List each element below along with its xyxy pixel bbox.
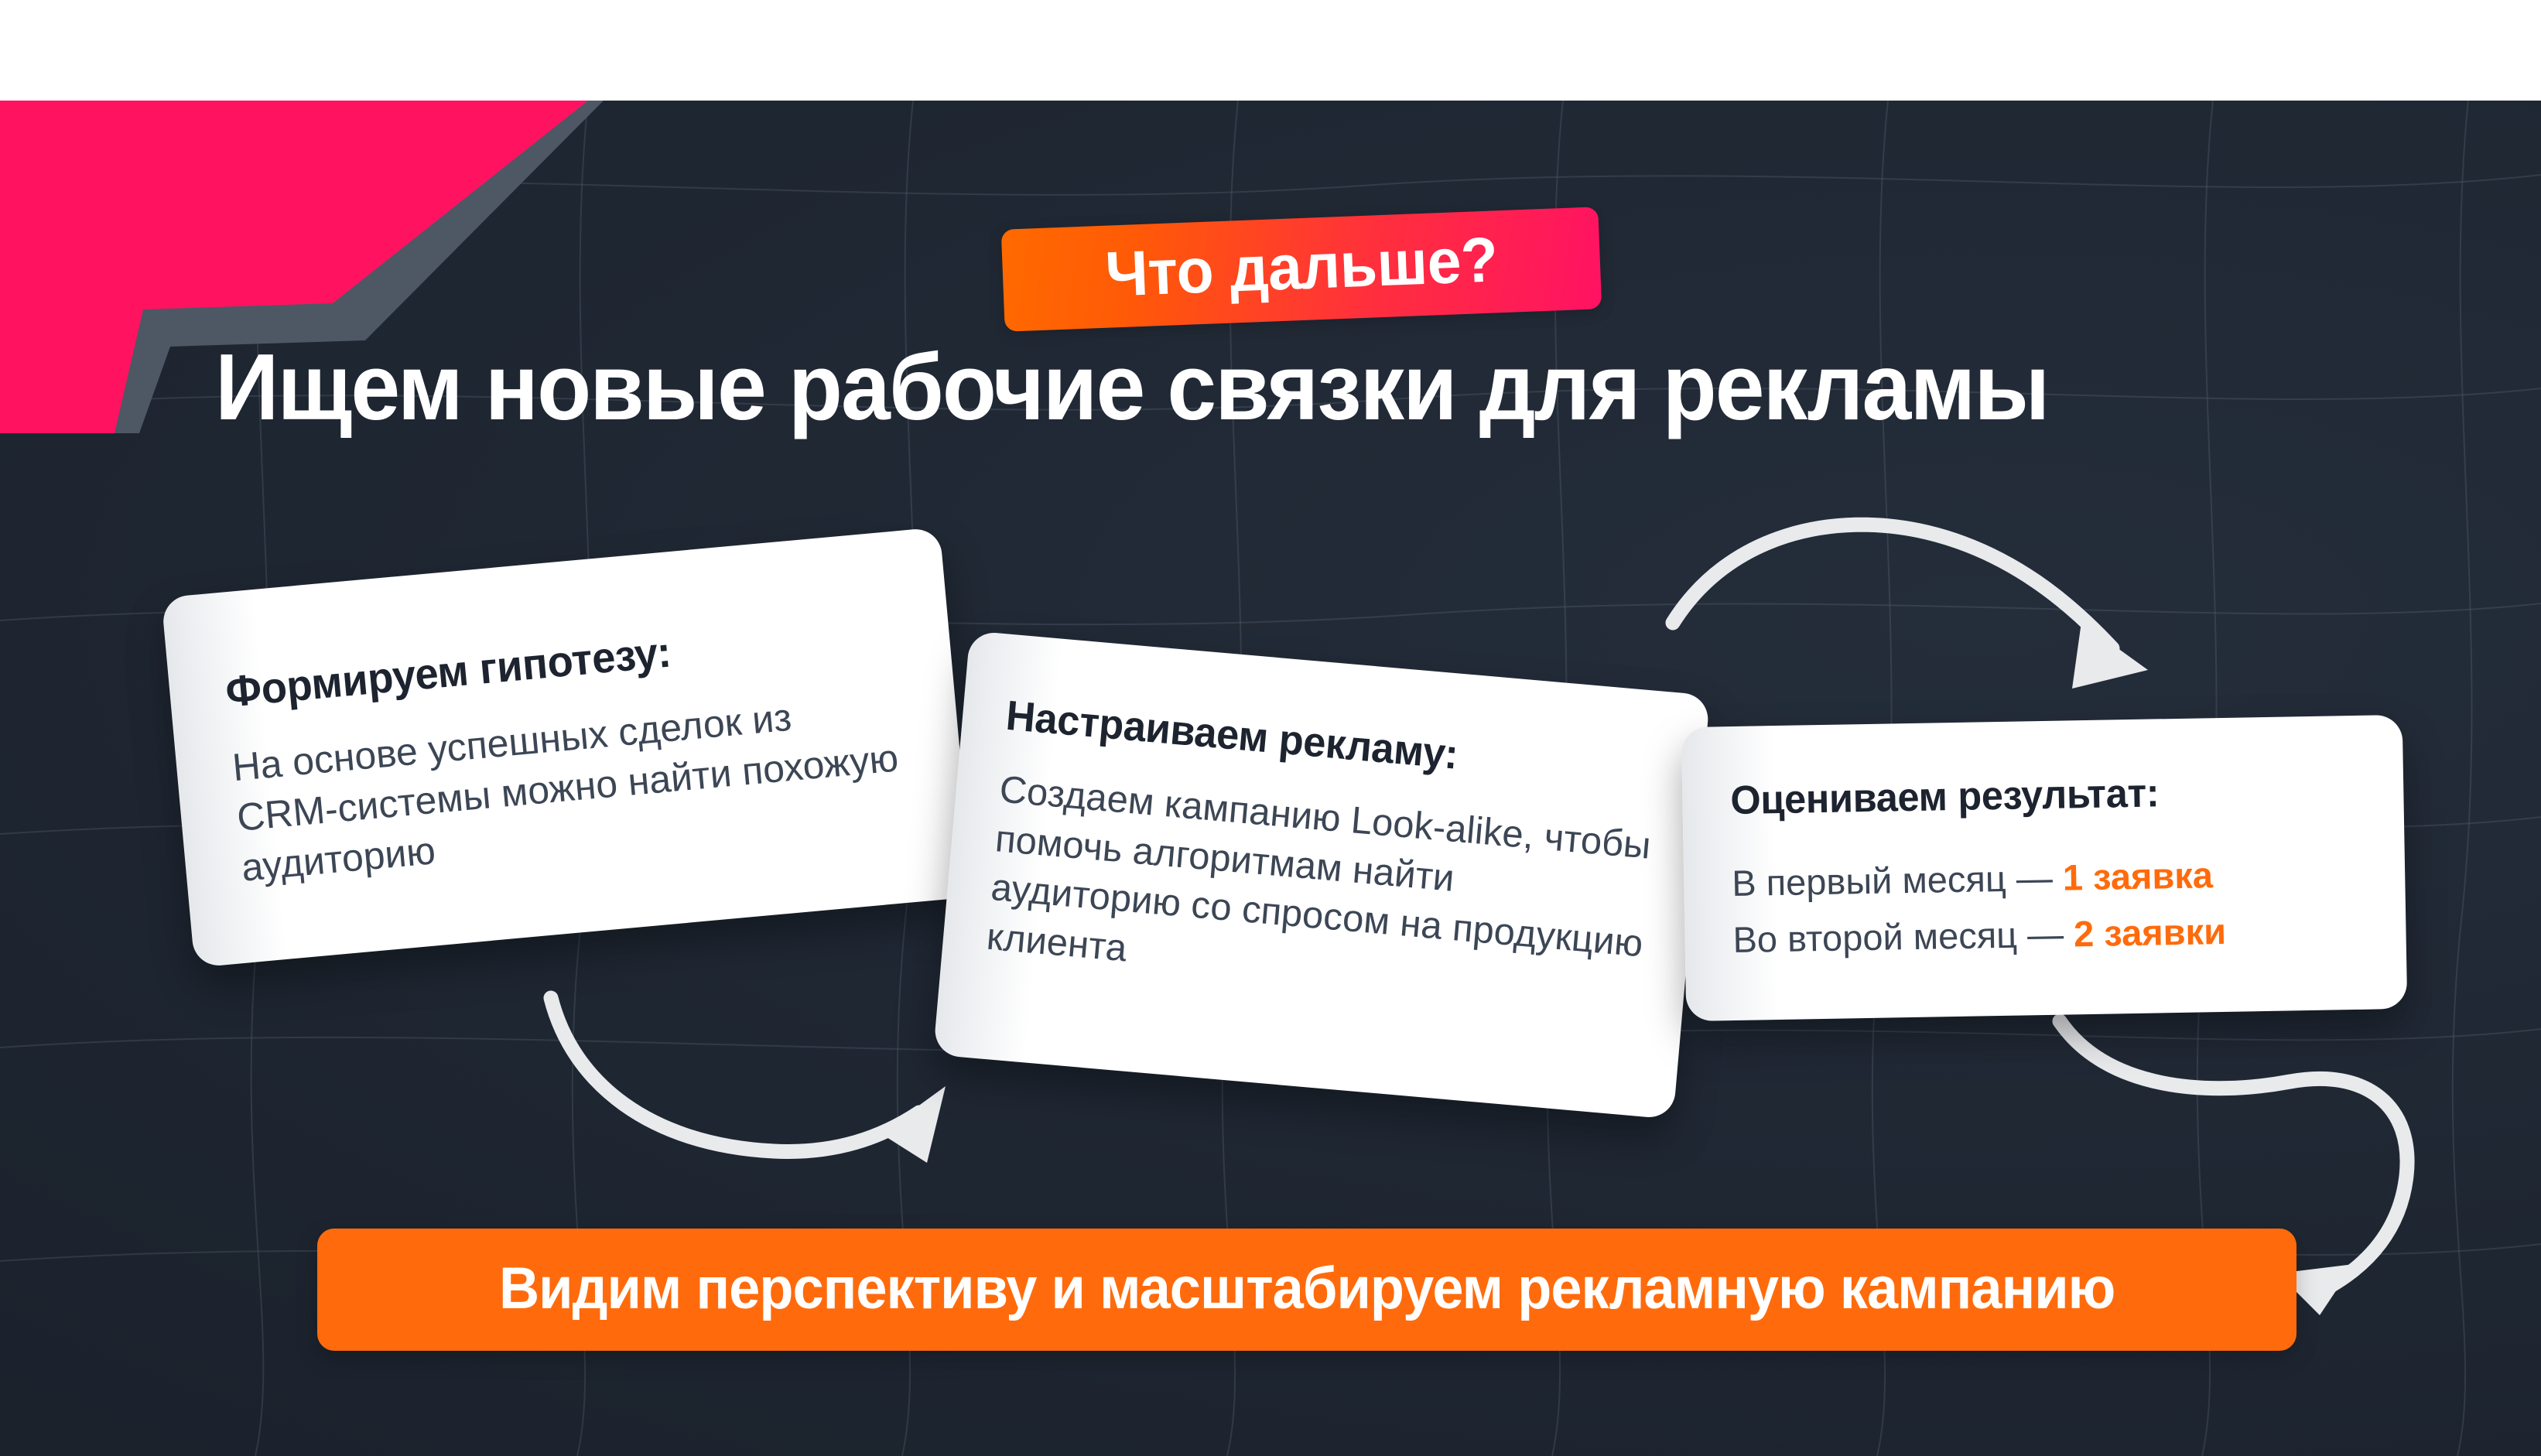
card-1-body: На основе успешных сделок из CRM-системы… [231,682,913,894]
step-card-2: Настраиваем рекламу: Создаем кампанию Lo… [933,631,1710,1119]
card-3-line-2-value: 2 заявки [2074,911,2227,954]
page-title: Ищем новые рабочие связки для рекламы [215,339,2237,435]
card-3-line-2-label: Во второй месяц — [1732,914,2074,961]
card-3-title: Оцениваем результат: [1730,767,2354,824]
step-card-1: Формируем гипотезу: На основе успешных с… [161,527,973,968]
conclusion-banner: Видим перспективу и масштабируем рекламн… [317,1229,2296,1351]
badge-label: Что дальше? [1104,228,1499,306]
card-3-line-1-label: В первый месяц — [1732,857,2064,904]
slide-canvas: Что дальше? Ищем новые рабочие связки дл… [0,0,2541,1456]
step-card-3: Оцениваем результат: В первый месяц — 1 … [1681,715,2407,1021]
card-3-body: В первый месяц — 1 заявка Во второй меся… [1732,844,2375,969]
card-3-line-1-value: 1 заявка [2062,854,2213,897]
card-3-result-line-2: Во второй месяц — 2 заявки [1732,901,2375,969]
card-2-body: Создаем кампанию Look-alike, чтобы помоч… [985,765,1656,1019]
conclusion-banner-label: Видим перспективу и масштабируем рекламн… [499,1259,2115,1318]
